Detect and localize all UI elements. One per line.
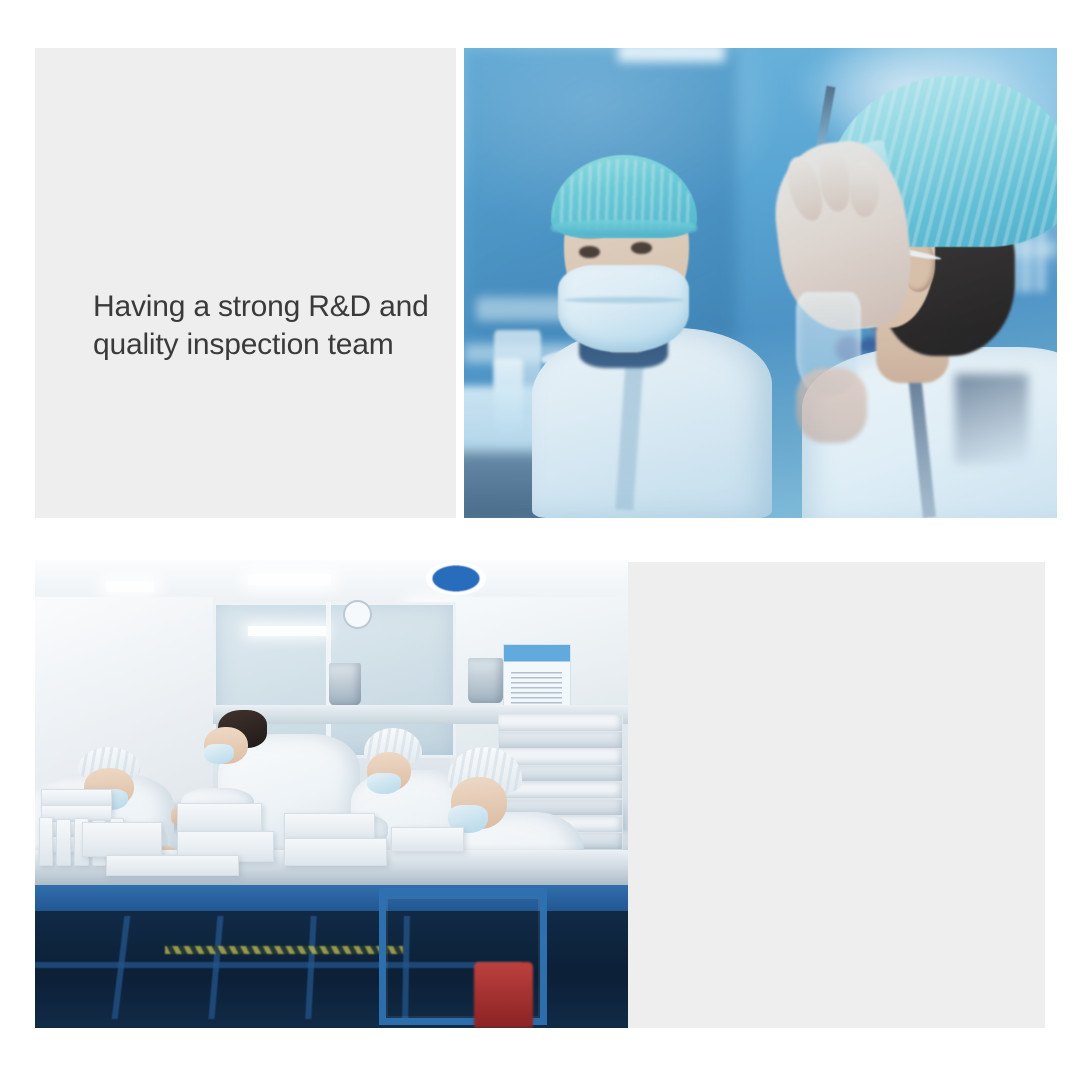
- top-caption-panel: Having a strong R&D and quality inspecti…: [35, 48, 456, 518]
- ceiling-light-icon: [248, 626, 325, 636]
- bottle: [56, 819, 70, 866]
- warehouse-photo: [35, 560, 628, 1028]
- carton: [41, 789, 112, 806]
- carton-foreground: [82, 822, 161, 857]
- carton: [498, 731, 624, 748]
- carton-foreground: [284, 813, 375, 841]
- carton-foreground: [284, 838, 387, 866]
- floor-hazard-marking: [165, 946, 402, 953]
- steel-canister-icon: [329, 663, 362, 705]
- lab-technician-front: [511, 123, 772, 518]
- bottom-section: a warehouse distribution area a warehous…: [0, 530, 1080, 1080]
- bottle: [39, 817, 53, 866]
- hairnet-band: [551, 220, 697, 236]
- eye: [579, 246, 600, 259]
- lab-photo: [464, 48, 1057, 518]
- ceiling-light-icon: [248, 574, 331, 585]
- blue-round-sign-icon: [426, 562, 485, 595]
- red-stool: [474, 962, 533, 1028]
- top-caption-text: Having a strong R&D and quality inspecti…: [93, 288, 483, 363]
- wall-clock-icon: [343, 600, 372, 629]
- page-root: Having a strong R&D and quality inspecti…: [0, 0, 1080, 1080]
- carton-foreground: [177, 803, 262, 833]
- carton-foreground: [391, 827, 464, 852]
- face-mask-icon: [558, 265, 688, 352]
- hand-gripping-flask: [796, 368, 867, 443]
- coat-shadow: [955, 374, 1028, 464]
- ceiling-light-icon: [618, 48, 725, 62]
- steel-canister-icon: [468, 658, 504, 702]
- bottom-caption-panel: a warehouse distribution area a warehous…: [628, 562, 1045, 1028]
- lab-scene: [464, 48, 1057, 518]
- carton-foreground: [106, 855, 238, 876]
- warehouse-scene: [35, 560, 628, 1028]
- ceiling-light-icon: [106, 581, 153, 592]
- carton: [498, 714, 624, 731]
- face-mask-icon: [367, 773, 401, 794]
- top-section: Having a strong R&D and quality inspecti…: [0, 0, 1080, 530]
